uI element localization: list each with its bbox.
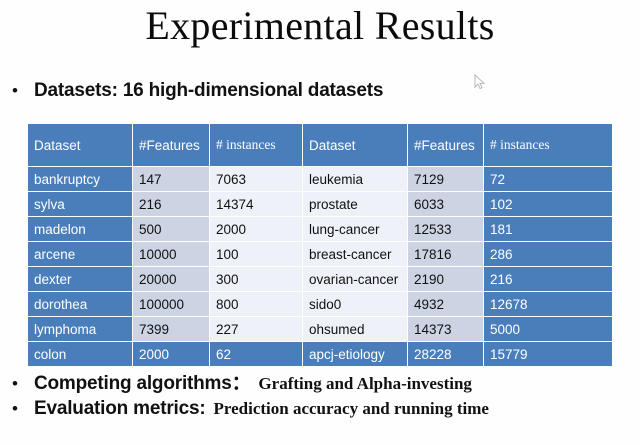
cell-dataset-1: lymphoma (28, 317, 132, 341)
cell-dataset-2: sido0 (303, 292, 407, 316)
cell-features-2: 14373 (408, 317, 483, 341)
bullet-metrics-label: Evaluation metrics: (34, 398, 205, 420)
table-row: sylva21614374prostate6033102 (28, 192, 612, 216)
cell-instances-1: 2000 (210, 217, 302, 241)
mouse-pointer-icon (474, 74, 486, 90)
cell-instances-2: 102 (484, 192, 612, 216)
cell-instances-2: 286 (484, 242, 612, 266)
table-row: dexter20000300ovarian-cancer2190216 (28, 267, 612, 291)
cell-instances-2: 216 (484, 267, 612, 291)
cell-dataset-2: leukemia (303, 167, 407, 191)
cell-dataset-2: ohsumed (303, 317, 407, 341)
cell-features-2: 12533 (408, 217, 483, 241)
bullet-datasets: • Datasets: 16 high-dimensional datasets (12, 80, 383, 102)
footer-cell-dataset-1: colon (28, 342, 132, 366)
bullet-algorithms-label: Competing algorithms： (34, 368, 250, 395)
cell-features-1: 20000 (133, 267, 209, 291)
cell-instances-1: 227 (210, 317, 302, 341)
cell-features-2: 4932 (408, 292, 483, 316)
cell-instances-1: 800 (210, 292, 302, 316)
cell-dataset-1: arcene (28, 242, 132, 266)
bullet-algorithms-detail: Grafting and Alpha-investing (250, 374, 472, 394)
table-row: lymphoma7399227ohsumed143735000 (28, 317, 612, 341)
footer-cell-features-1: 2000 (133, 342, 209, 366)
footer-cell-instances-2: 15779 (484, 342, 612, 366)
cell-dataset-1: bankruptcy (28, 167, 132, 191)
footer-cell-instances-1: 62 (210, 342, 302, 366)
cell-features-2: 6033 (408, 192, 483, 216)
cell-dataset-1: sylva (28, 192, 132, 216)
footer-cell-dataset-2: apcj-etiology (303, 342, 407, 366)
column-header-features-1: #Features (133, 124, 209, 166)
datasets-table: Dataset #Features # instances Dataset #F… (27, 123, 613, 367)
table-row: madelon5002000lung-cancer12533181 (28, 217, 612, 241)
cell-instances-1: 14374 (210, 192, 302, 216)
column-header-dataset-2: Dataset (303, 124, 407, 166)
cell-features-1: 500 (133, 217, 209, 241)
cell-instances-1: 100 (210, 242, 302, 266)
cell-features-1: 100000 (133, 292, 209, 316)
cell-instances-2: 5000 (484, 317, 612, 341)
bullet-datasets-label: Datasets: 16 high-dimensional datasets (34, 80, 383, 102)
column-header-instances-1: # instances (210, 124, 302, 166)
table-row: dorothea100000800sido0493212678 (28, 292, 612, 316)
cell-features-2: 2190 (408, 267, 483, 291)
bullet-marker-icon: • (12, 400, 34, 417)
cell-dataset-2: prostate (303, 192, 407, 216)
table-row: arcene10000100breast-cancer17816286 (28, 242, 612, 266)
cell-dataset-1: madelon (28, 217, 132, 241)
cell-instances-2: 181 (484, 217, 612, 241)
cell-features-2: 7129 (408, 167, 483, 191)
cell-features-1: 7399 (133, 317, 209, 341)
cell-features-1: 147 (133, 167, 209, 191)
cell-dataset-1: dexter (28, 267, 132, 291)
page-title: Experimental Results (0, 2, 640, 50)
cell-features-2: 17816 (408, 242, 483, 266)
bullet-marker-icon: • (12, 82, 34, 99)
cell-features-1: 10000 (133, 242, 209, 266)
table-footer-row: colon200062apcj-etiology2822815779 (28, 342, 612, 366)
bullet-marker-icon: • (12, 375, 34, 392)
bullet-competing-algorithms: • Competing algorithms： Grafting and Alp… (12, 368, 472, 395)
cell-dataset-2: breast-cancer (303, 242, 407, 266)
footer-cell-features-2: 28228 (408, 342, 483, 366)
cell-features-1: 216 (133, 192, 209, 216)
bullet-evaluation-metrics: • Evaluation metrics: Prediction accurac… (12, 398, 489, 420)
bullet-metrics-detail: Prediction accuracy and running time (205, 399, 488, 419)
column-header-dataset-1: Dataset (28, 124, 132, 166)
presentation-slide: Experimental Results • Datasets: 16 high… (0, 0, 640, 445)
cell-instances-1: 300 (210, 267, 302, 291)
cell-instances-2: 72 (484, 167, 612, 191)
column-header-instances-2: # instances (484, 124, 612, 166)
column-header-features-2: #Features (408, 124, 483, 166)
cell-instances-2: 12678 (484, 292, 612, 316)
cell-dataset-2: lung-cancer (303, 217, 407, 241)
cell-dataset-1: dorothea (28, 292, 132, 316)
cell-instances-1: 7063 (210, 167, 302, 191)
cell-dataset-2: ovarian-cancer (303, 267, 407, 291)
table-row: bankruptcy1477063leukemia712972 (28, 167, 612, 191)
table-header-row: Dataset #Features # instances Dataset #F… (28, 124, 612, 166)
